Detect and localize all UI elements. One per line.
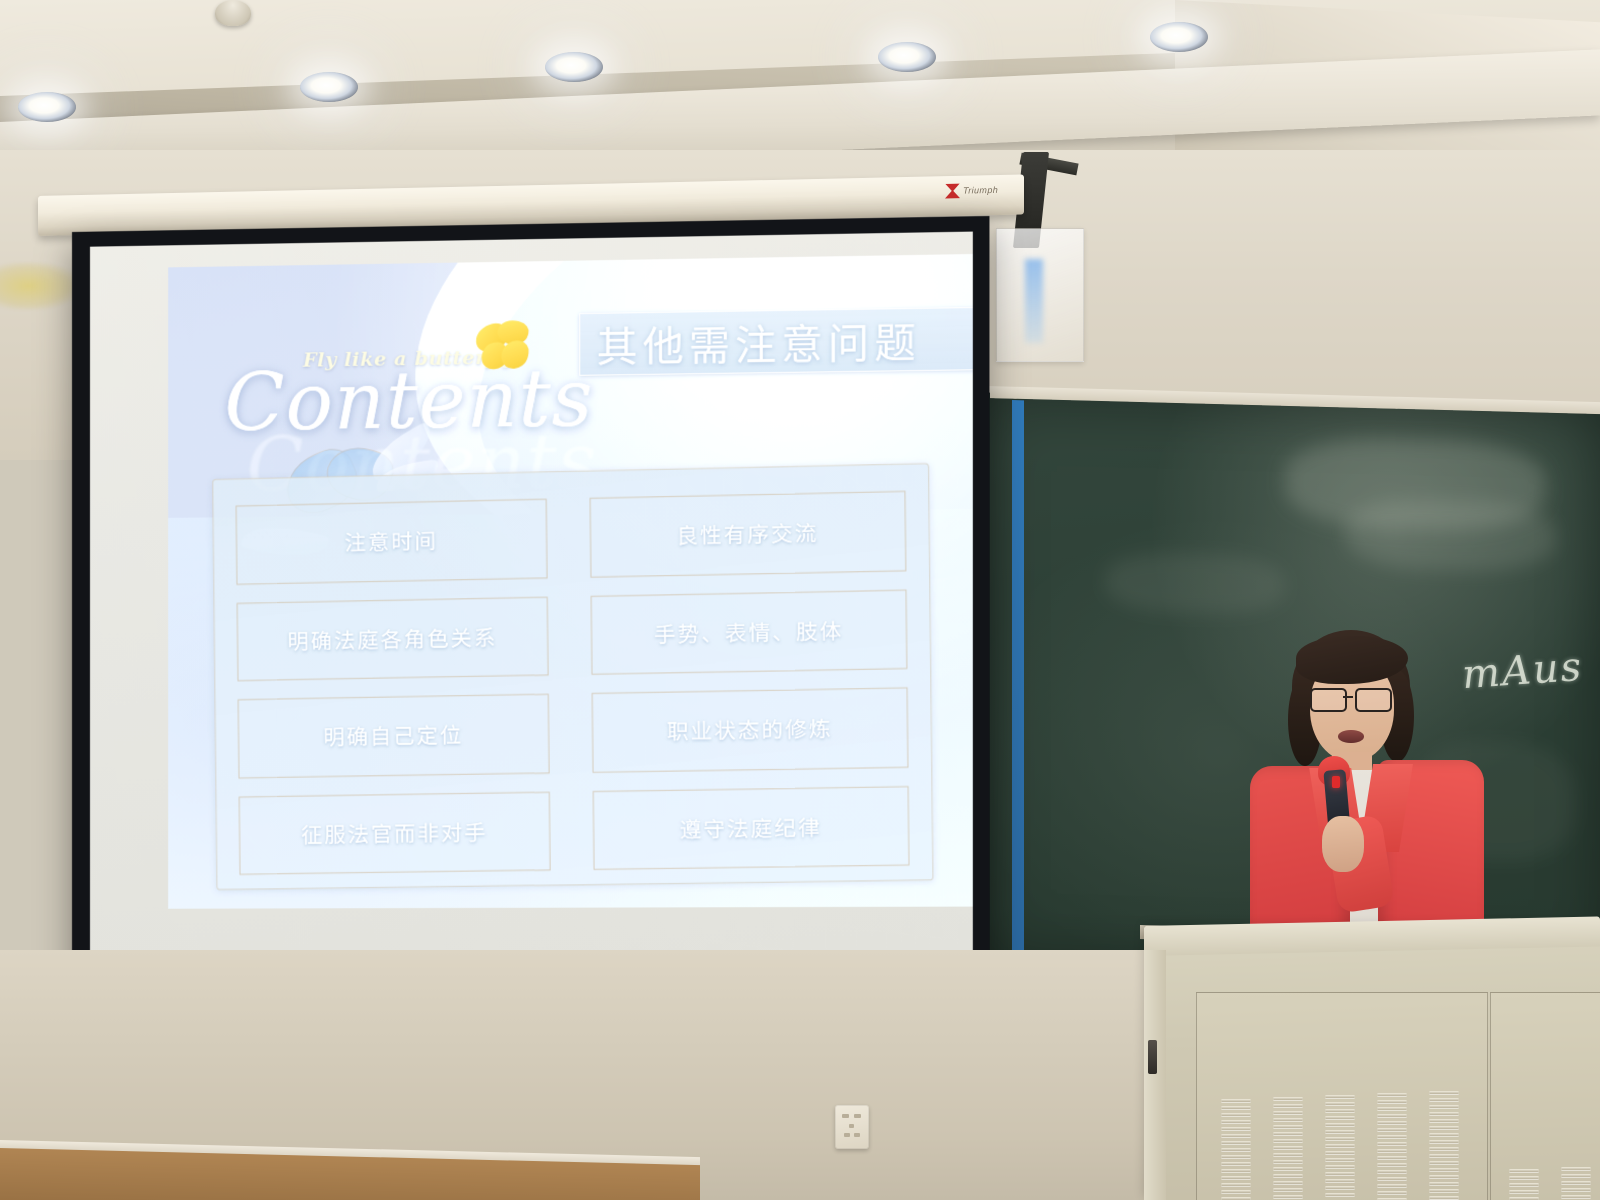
slide-item-label: 良性有序交流 (676, 517, 818, 550)
presenter-hand (1322, 816, 1364, 872)
slide-item-label: 遵守法庭纪律 (679, 812, 821, 845)
yellow-butterfly-icon (475, 320, 542, 378)
presenter (1240, 630, 1480, 960)
downlight-icon (1150, 22, 1208, 52)
slide-item: 手势、表情、肢体 (591, 589, 908, 675)
wall-control-plate[interactable] (996, 228, 1084, 362)
slide-item: 职业状态的修炼 (592, 687, 909, 772)
projection-screen-surface: Contents Fly like a butterfly Contents (90, 232, 973, 964)
brand-wordmark: Triumph (963, 185, 998, 196)
wall-tinsel-decoration (0, 262, 80, 310)
podium-door-right[interactable] (1490, 992, 1600, 1200)
power-outlet[interactable] (835, 1105, 869, 1149)
slide-item-label: 明确法庭各角色关系 (287, 622, 497, 656)
podium-latch[interactable] (1148, 1040, 1157, 1074)
slide-item: 征服法官而非对手 (239, 791, 551, 875)
blackboard-blue-strip (1012, 400, 1024, 960)
slide-item-label: 手势、表情、肢体 (654, 615, 844, 649)
glasses-lens-left (1310, 688, 1347, 712)
slide-content-panel: 注意时间 良性有序交流 明确法庭各角色关系 手势、表情、肢体 明确自己定位 职业… (212, 463, 933, 890)
slide-title: 其他需注意问题 (580, 310, 921, 374)
smoke-detector-icon (215, 0, 251, 26)
downlight-icon (18, 92, 76, 122)
microphone-indicator-light (1332, 776, 1340, 788)
slide-item-label: 明确自己定位 (323, 720, 463, 753)
slide-item: 遵守法庭纪律 (593, 786, 910, 870)
glasses-bridge (1343, 696, 1353, 698)
podium-left-edge (1144, 950, 1166, 1200)
slide-item-label: 注意时间 (344, 526, 438, 558)
podium-vent (1377, 1093, 1407, 1200)
wall-plate-reflection (1025, 259, 1043, 343)
podium-vent (1429, 1091, 1459, 1200)
slide-item-label: 征服法官而非对手 (301, 817, 488, 850)
presentation-slide: Contents Fly like a butterfly Contents (168, 254, 973, 909)
slide-item: 注意时间 (236, 499, 548, 585)
classroom-scene: mAus Triumph Contents Fly like a butterf… (0, 0, 1600, 1200)
podium-vent (1561, 1167, 1591, 1200)
downlight-icon (300, 72, 358, 102)
podium-vent (1221, 1099, 1251, 1200)
podium-door-left[interactable] (1196, 992, 1488, 1200)
slide-item: 明确法庭各角色关系 (237, 596, 549, 681)
slide-item: 良性有序交流 (590, 491, 907, 577)
glasses-lens-right (1355, 688, 1392, 712)
podium-vent (1325, 1095, 1355, 1200)
podium-vent (1509, 1169, 1539, 1200)
glasses-icon (1310, 688, 1396, 708)
slide-item: 明确自己定位 (238, 694, 550, 778)
slide-item-grid: 注意时间 良性有序交流 明确法庭各角色关系 手势、表情、肢体 明确自己定位 职业… (236, 491, 910, 875)
downlight-icon (545, 52, 603, 82)
slide-item-label: 职业状态的修炼 (667, 713, 833, 746)
projection-screen-frame: Contents Fly like a butterfly Contents (72, 216, 989, 982)
podium-vent (1273, 1097, 1303, 1200)
downlight-icon (878, 42, 936, 72)
roller-brand-logo: Triumph (945, 178, 1025, 202)
presenter-mouth (1338, 730, 1364, 743)
slide-title-box: 其他需注意问题 (579, 307, 973, 376)
brand-mark-icon (945, 183, 960, 198)
